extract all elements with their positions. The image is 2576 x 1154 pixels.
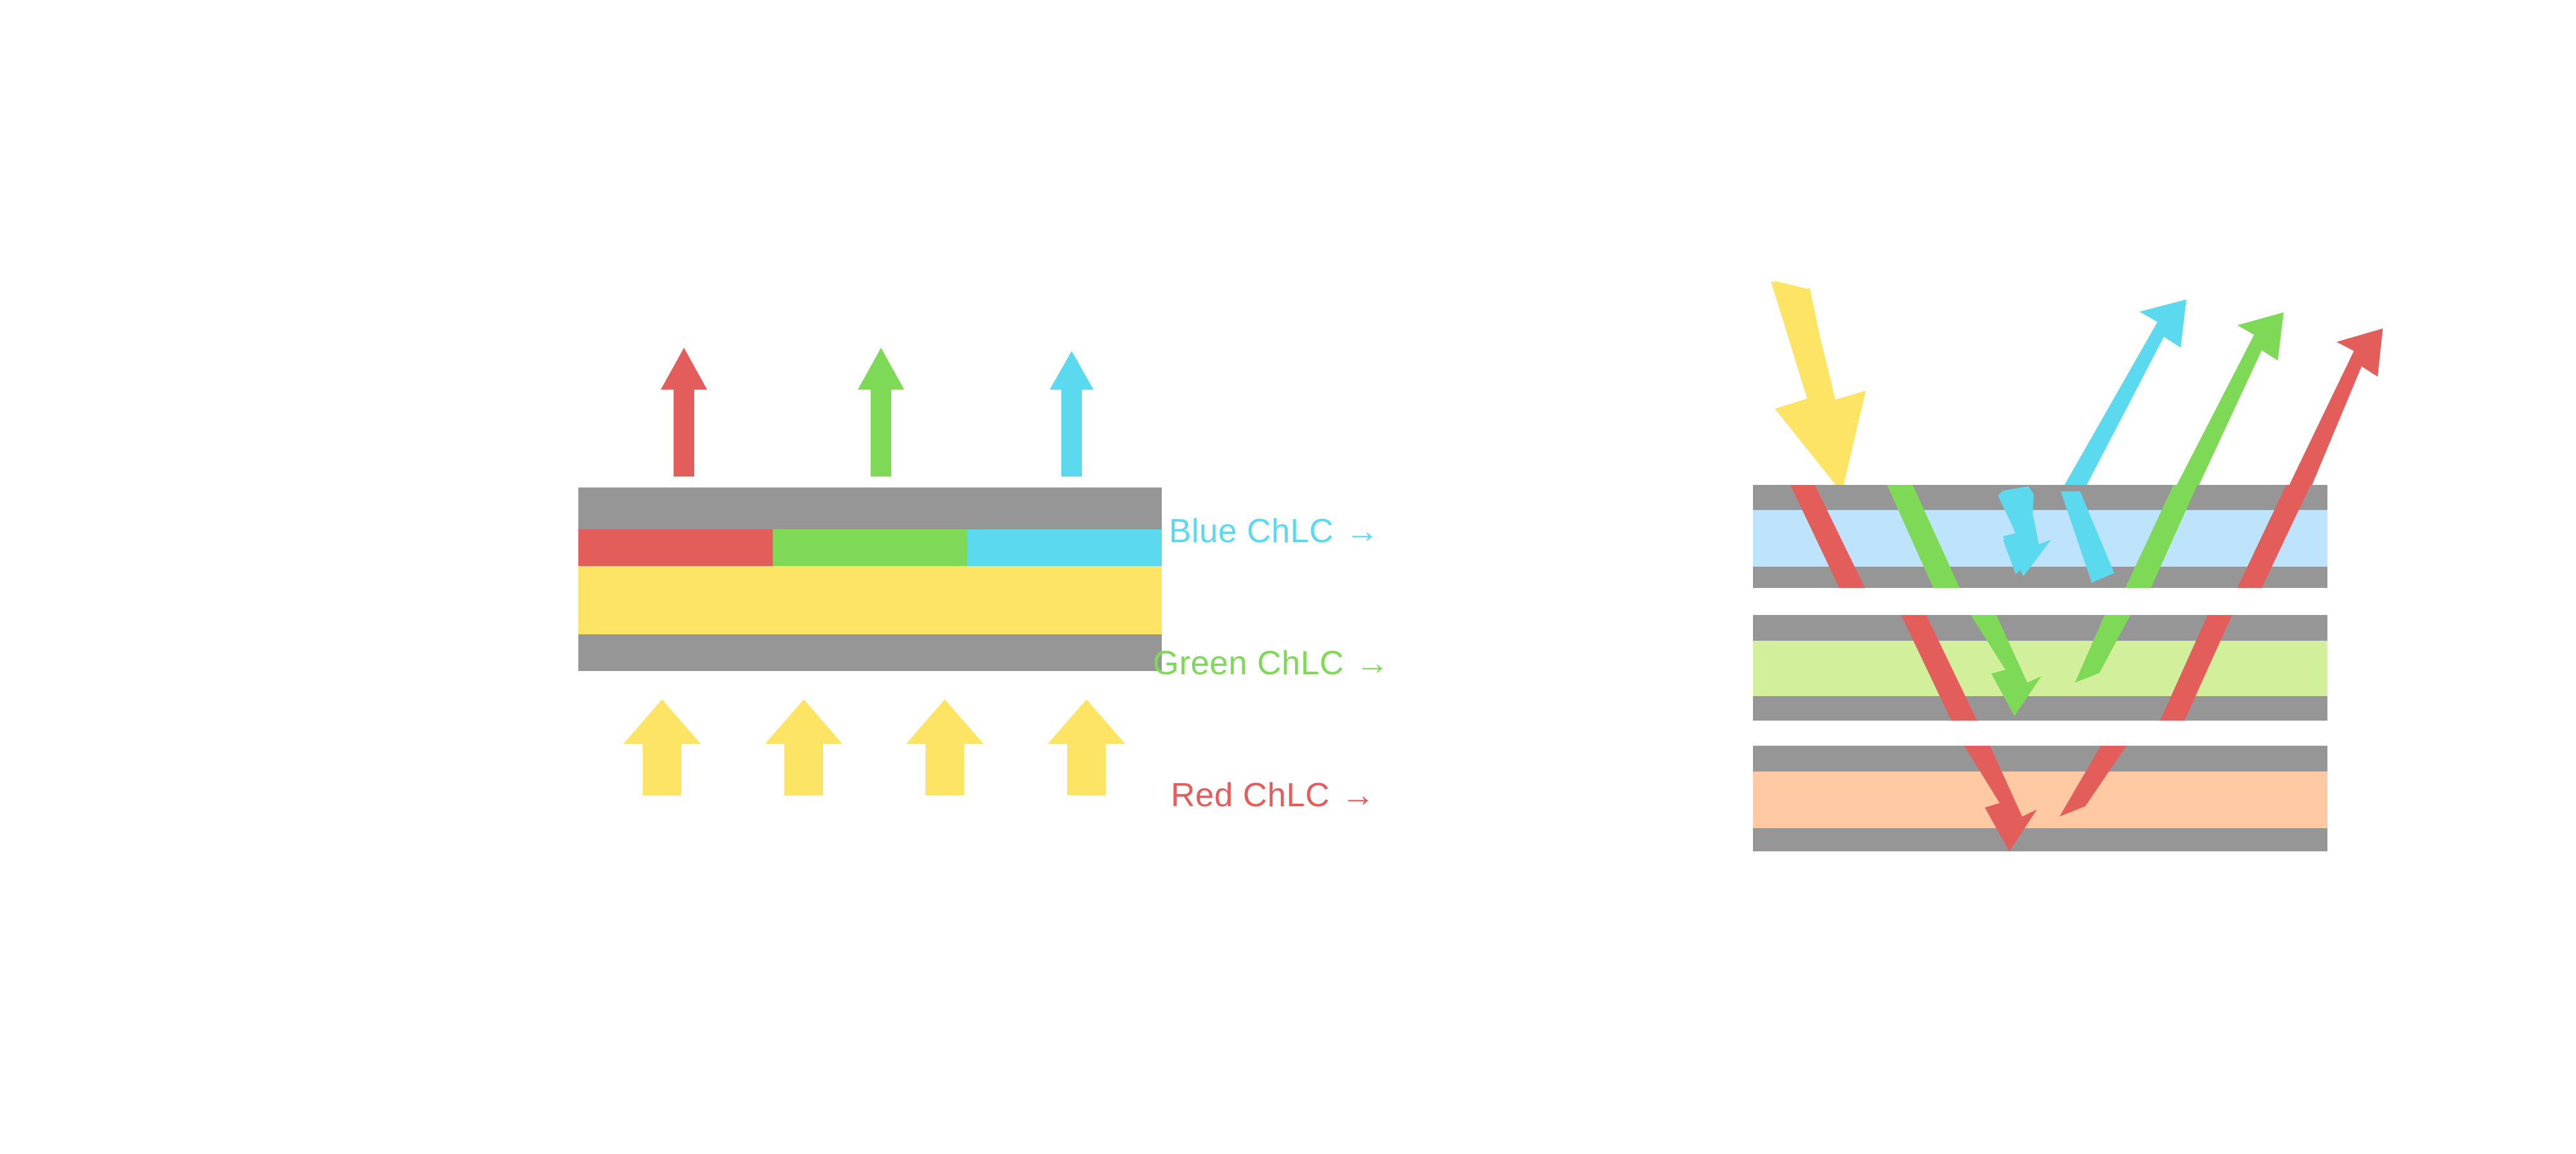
backlight-arrow: [623, 699, 701, 795]
backlight-arrows: [623, 699, 1125, 795]
red-chlc-cell: [1753, 746, 2327, 851]
right-panel-reflective-stack: Blue ChLC→ Green ChLC→ Red ChLC→: [1320, 0, 2415, 1154]
red-emitted-arrow: [661, 348, 707, 477]
blue-filter-segment: [967, 529, 1162, 566]
red-filter-segment: [578, 529, 773, 566]
backlight-arrow: [765, 699, 842, 795]
blue-chlc-label-text: Blue ChLC: [1169, 513, 1334, 550]
backlight-arrow: [906, 699, 983, 795]
green-ray-out-upper: [2173, 312, 2284, 491]
incident-white-light-arrow-shape: [1774, 281, 1866, 493]
blue-cell-top-electrode: [1753, 485, 2327, 510]
green-chlc-label-text: Green ChLC: [1153, 645, 1344, 682]
outgoing-rays-above: [2061, 299, 2383, 491]
figure-canvas: Blue ChLC→ Green ChLC→ Red ChLC→ Stacked…: [0, 0, 2576, 1154]
green-chlc-label: Green ChLC→: [1153, 644, 1389, 683]
green-cell-fill: [1753, 641, 2327, 696]
red-cell-bottom-electrode: [1753, 828, 2327, 851]
blue-ray-out-upper: [2061, 299, 2186, 491]
red-cell-top-electrode: [1753, 746, 2327, 771]
green-filter-segment: [773, 529, 967, 566]
green-chlc-label-arrow-icon: →: [1344, 645, 1390, 682]
green-chlc-cell: [1753, 615, 2327, 721]
red-ray-out-upper: [2286, 328, 2383, 491]
left-bottom-electrode: [578, 634, 1162, 671]
backlight-layer: [578, 566, 1162, 634]
backlight-arrow: [1048, 699, 1125, 795]
green-cell-bottom-electrode: [1753, 696, 2327, 721]
left-top-electrode: [578, 487, 1162, 529]
left-panel-transmissive-stack: [0, 0, 1224, 1154]
green-cell-top-electrode: [1753, 615, 2327, 641]
red-cell-fill: [1753, 771, 2327, 828]
red-chlc-label-text: Red ChLC: [1171, 777, 1330, 814]
blue-emitted-arrow: [1050, 351, 1094, 477]
blue-chlc-label-arrow-icon: →: [1334, 513, 1379, 550]
red-chlc-label-arrow-icon: →: [1330, 777, 1376, 814]
blue-chlc-label: Blue ChLC→: [1169, 512, 1379, 551]
red-chlc-label: Red ChLC→: [1171, 776, 1375, 815]
green-emitted-arrow: [858, 348, 904, 477]
